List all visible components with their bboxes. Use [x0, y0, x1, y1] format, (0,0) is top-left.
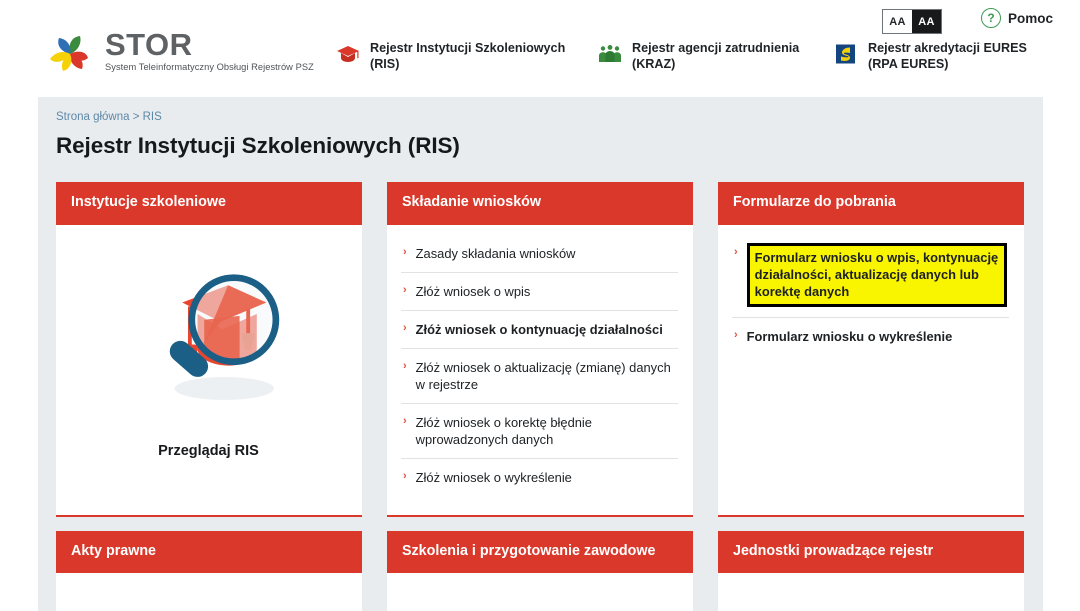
list-item[interactable]: ›Złóż wniosek o korektę błędnie wprowadz…: [401, 403, 678, 458]
card-title: Instytucje szkoleniowe: [56, 182, 362, 225]
list-item[interactable]: ›Formularz wniosku o wykreślenie: [732, 317, 1009, 355]
list-item-label: Złóż wniosek o kontynuację działalności: [416, 321, 663, 338]
nav-item-label: Rejestr akredytacji EURES (RPA EURES): [868, 41, 1027, 72]
list-item-label: Złóż wniosek o wykreślenie: [416, 469, 572, 486]
header-nav: Rejestr Instytucji Szkoleniowych (RIS) R…: [336, 41, 1056, 85]
page-title: Rejestr Instytucji Szkoleniowych (RIS): [56, 133, 460, 159]
card-body: Przeglądaj RIS: [56, 225, 362, 517]
stor-logo[interactable]: STOR System Teleinformatyczny Obsługi Re…: [44, 28, 314, 80]
card-row-top: Instytucje szkoleniowe: [56, 182, 1026, 517]
chevron-right-icon: ›: [734, 245, 738, 260]
list-item[interactable]: ›Zasady składania wniosków: [401, 235, 678, 272]
page-root: STOR System Teleinformatyczny Obsługi Re…: [0, 0, 1080, 611]
list-item[interactable]: ›Złóż wniosek o wpis: [401, 272, 678, 310]
card-body: [718, 573, 1024, 611]
card-units: Jednostki prowadzące rejestr: [718, 531, 1024, 611]
card-title: Jednostki prowadzące rejestr: [718, 531, 1024, 574]
chevron-right-icon: ›: [734, 328, 738, 343]
logo-subtitle: System Teleinformatyczny Obsługi Rejestr…: [105, 62, 314, 72]
list-item[interactable]: ›Złóż wniosek o kontynuację działalności: [401, 310, 678, 348]
logo-title: STOR: [105, 30, 314, 59]
question-mark-circle-icon: ?: [981, 8, 1001, 28]
card-forms: Formularze do pobrania ›Formularz wniosk…: [718, 182, 1024, 517]
card-body: ›Zasady składania wniosków ›Złóż wniosek…: [387, 225, 693, 517]
card-body: ›Formularz wniosku o wpis, kontynuację d…: [718, 225, 1024, 517]
nav-item-eures[interactable]: Rejestr akredytacji EURES (RPA EURES): [834, 41, 1027, 72]
card-institutions: Instytucje szkoleniowe: [56, 182, 362, 517]
nav-item-label: Rejestr agencji zatrudnienia (KRAZ): [632, 41, 799, 72]
card-body: [56, 573, 362, 611]
card-trainings: Szkolenia i przygotowanie zawodowe: [387, 531, 693, 611]
pinwheel-logo-icon: [44, 30, 96, 80]
breadcrumb[interactable]: Strona główna > RIS: [56, 111, 162, 123]
card-body: [387, 573, 693, 611]
card-grid: Instytucje szkoleniowe: [56, 182, 1026, 611]
nav-item-label: Rejestr Instytucji Szkoleniowych (RIS): [370, 41, 565, 72]
list-item[interactable]: ›Złóż wniosek o wykreślenie: [401, 458, 678, 496]
card-applications: Składanie wniosków ›Zasady składania wni…: [387, 182, 693, 517]
card-title: Składanie wniosków: [387, 182, 693, 225]
people-group-icon: [598, 42, 622, 66]
list-item[interactable]: ›Formularz wniosku o wpis, kontynuację d…: [732, 235, 1009, 317]
list-item-label: Formularz wniosku o wykreślenie: [747, 328, 953, 345]
help-link[interactable]: ? Pomoc: [981, 8, 1053, 28]
graduation-cap-icon: [336, 42, 360, 66]
graduation-cap-magnifier-icon: [121, 249, 297, 421]
nav-item-kraz[interactable]: Rejestr agencji zatrudnienia (KRAZ): [598, 41, 799, 72]
help-label: Pomoc: [1008, 11, 1053, 26]
list-item-label: Złóż wniosek o aktualizację (zmianę) dan…: [416, 359, 676, 393]
applications-link-list: ›Zasady składania wniosków ›Złóż wniosek…: [401, 235, 678, 496]
list-item-label: Złóż wniosek o wpis: [416, 283, 531, 300]
card-legal-acts: Akty prawne: [56, 531, 362, 611]
chevron-right-icon: ›: [403, 359, 407, 374]
font-size-contrast-button[interactable]: AA: [912, 10, 941, 33]
chevron-right-icon: ›: [403, 283, 407, 298]
top-header: STOR System Teleinformatyczny Obsługi Re…: [0, 0, 1080, 97]
card-title: Akty prawne: [56, 531, 362, 574]
list-item-label: Złóż wniosek o korektę błędnie wprowadzo…: [416, 414, 676, 448]
chevron-right-icon: ›: [403, 245, 407, 260]
highlighted-form-link[interactable]: Formularz wniosku o wpis, kontynuację dz…: [747, 243, 1007, 307]
eures-badge-icon: [834, 42, 858, 66]
list-item[interactable]: ›Złóż wniosek o aktualizację (zmianę) da…: [401, 348, 678, 403]
content-area: Strona główna > RIS Rejestr Instytucji S…: [38, 97, 1043, 611]
chevron-right-icon: ›: [403, 414, 407, 429]
forms-link-list: ›Formularz wniosku o wpis, kontynuację d…: [732, 235, 1009, 355]
browse-ris-label: Przeglądaj RIS: [158, 443, 259, 459]
chevron-right-icon: ›: [403, 321, 407, 336]
font-size-normal-button[interactable]: AA: [883, 10, 912, 33]
browse-ris-link[interactable]: Przeglądaj RIS: [70, 235, 347, 459]
card-row-bottom: Akty prawne Szkolenia i przygotowanie za…: [56, 531, 1026, 611]
list-item-label: Zasady składania wniosków: [416, 245, 576, 262]
font-size-controls[interactable]: AA AA: [882, 9, 942, 34]
nav-item-ris[interactable]: Rejestr Instytucji Szkoleniowych (RIS): [336, 41, 565, 72]
card-title: Formularze do pobrania: [718, 182, 1024, 225]
chevron-right-icon: ›: [403, 469, 407, 484]
card-title: Szkolenia i przygotowanie zawodowe: [387, 531, 693, 574]
